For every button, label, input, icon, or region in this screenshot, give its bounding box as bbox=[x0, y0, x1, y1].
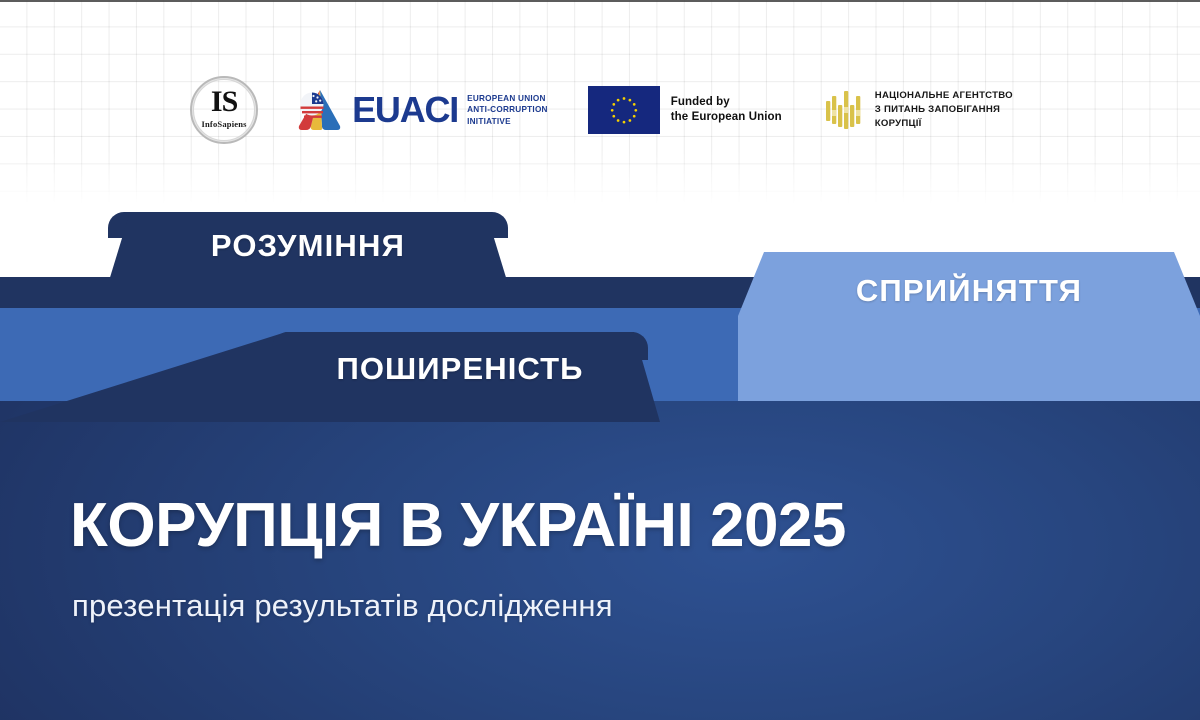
nazk-line3: КОРУПЦІЇ bbox=[875, 117, 1013, 131]
logo-eu-funding: Funded by the European Union bbox=[588, 86, 782, 134]
logo-nazk: НАЦІОНАЛЬНЕ АГЕНТСТВО З ПИТАНЬ ЗАПОБІГАН… bbox=[824, 87, 1013, 133]
page-title: КОРУПЦІЯ В УКРАЇНІ 2025 bbox=[70, 495, 846, 557]
nazk-line2: З ПИТАНЬ ЗАПОБІГАННЯ bbox=[875, 103, 1013, 117]
eu-funding-text: Funded by the European Union bbox=[671, 95, 782, 126]
partner-logo-row: IS InfoSapiens bbox=[0, 74, 1200, 146]
infosapiens-monogram: IS bbox=[187, 87, 261, 117]
euaci-tagline: EUROPEAN UNION ANTI-CORRUPTION INITIATIV… bbox=[467, 93, 548, 128]
logo-euaci: EUACI EUROPEAN UNION ANTI-CORRUPTION INI… bbox=[297, 88, 548, 132]
euaci-tagline-line3: INITIATIVE bbox=[467, 116, 548, 128]
nazk-trident-icon bbox=[824, 87, 864, 133]
nazk-text: НАЦІОНАЛЬНЕ АГЕНТСТВО З ПИТАНЬ ЗАПОБІГАН… bbox=[875, 89, 1013, 132]
euaci-emblem-icon bbox=[297, 88, 343, 132]
tab-understanding[interactable]: РОЗУМІННЯ bbox=[108, 212, 508, 284]
infosapiens-icon: IS InfoSapiens bbox=[187, 73, 261, 147]
nazk-line1: НАЦІОНАЛЬНЕ АГЕНТСТВО bbox=[875, 89, 1013, 103]
euaci-wordmark: EUACI bbox=[352, 92, 458, 128]
euaci-tagline-line1: EUROPEAN UNION bbox=[467, 93, 548, 105]
euaci-tagline-line2: ANTI-CORRUPTION bbox=[467, 104, 548, 116]
eu-flag-icon bbox=[588, 86, 660, 134]
top-rule bbox=[0, 0, 1200, 2]
tab-perception-label: СПРИЙНЯТТЯ bbox=[738, 252, 1200, 330]
tab-prevalence-label: ПОШИРЕНІСТЬ bbox=[272, 338, 648, 400]
eu-funding-line2: the European Union bbox=[671, 110, 782, 125]
presentation-title-slide: IS InfoSapiens bbox=[0, 0, 1200, 720]
logo-infosapiens: IS InfoSapiens bbox=[187, 73, 297, 147]
infosapiens-name: InfoSapiens bbox=[187, 119, 261, 129]
page-subtitle: презентація результатів дослідження bbox=[72, 588, 613, 624]
eu-funding-line1: Funded by bbox=[671, 95, 782, 110]
